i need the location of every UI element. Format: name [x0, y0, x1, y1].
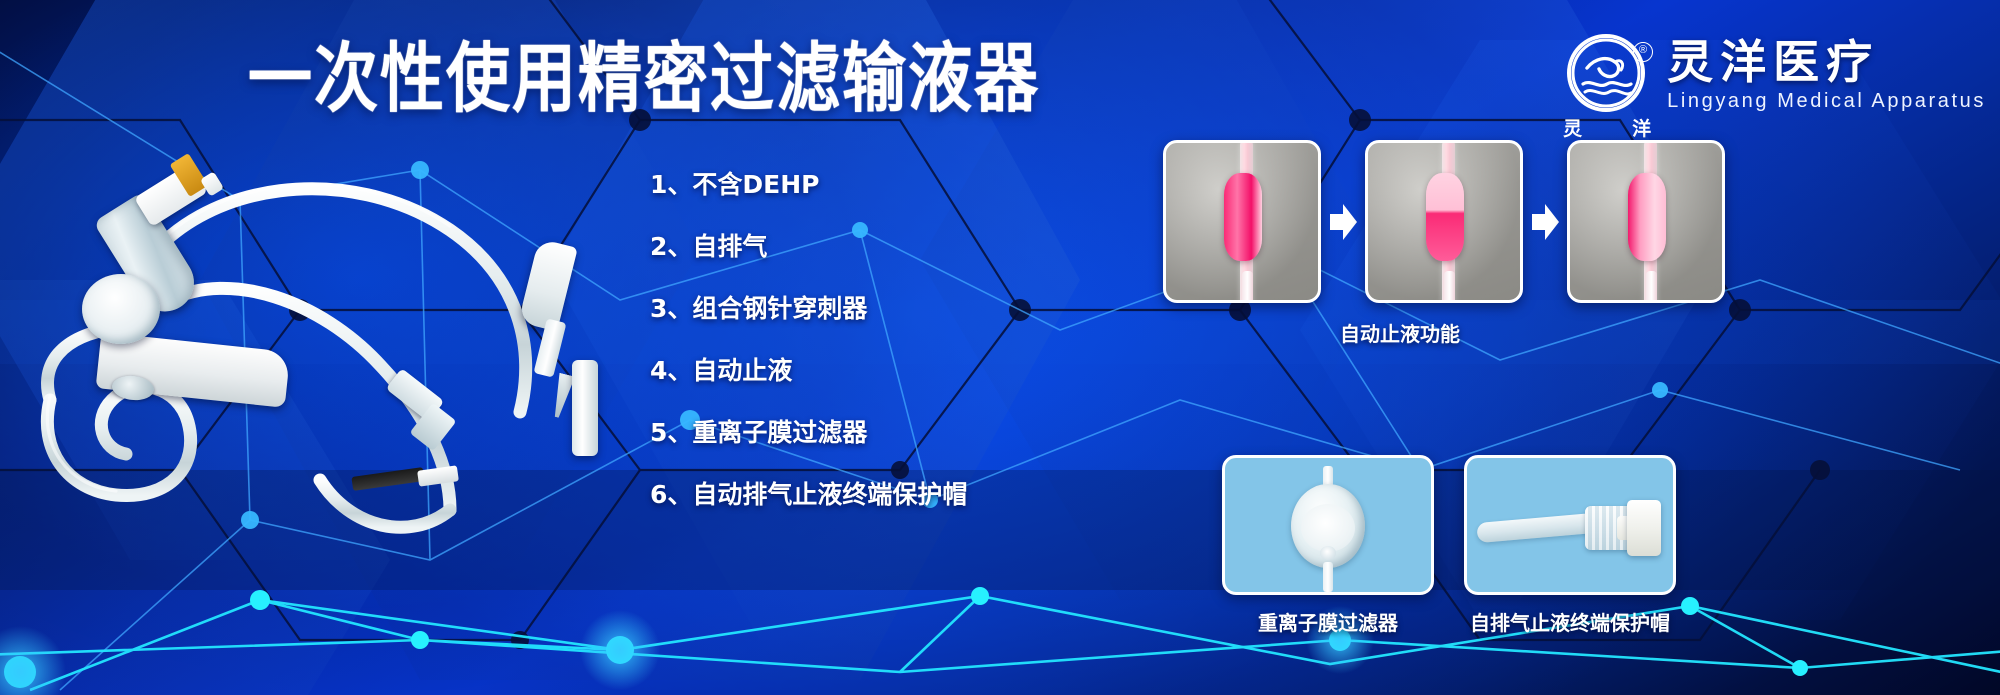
product-card-caption: 重离子膜过滤器 — [1222, 607, 1434, 636]
logo-mark-characters: 灵 洋 — [1563, 114, 1651, 141]
page-title: 一次性使用精密过滤输液器 — [248, 42, 1040, 118]
product-card-caption: 自排气止液终端保护帽 — [1464, 607, 1676, 636]
brand-name-en: Lingyang Medical Apparatus — [1667, 90, 1986, 113]
product-photo — [20, 150, 660, 550]
right-arrow-icon — [1330, 202, 1356, 242]
logo-char-left: 灵 — [1563, 114, 1582, 141]
brand-lockup: ® 灵 洋 灵洋医疗 Lingyang Medical Apparatus — [1563, 34, 1986, 138]
feature-item: 2、自排气 — [650, 234, 970, 259]
fluid-chamber — [1628, 173, 1666, 261]
brand-name-cn: 灵洋医疗 — [1667, 38, 1986, 86]
filter-photo — [1222, 455, 1434, 595]
membrane-filter — [82, 274, 160, 344]
registered-trademark-icon: ® — [1633, 42, 1653, 62]
product-card-cap: 自排气止液终端保护帽 — [1464, 455, 1676, 595]
feature-list: 1、不含DEHP 2、自排气 3、组合钢针穿刺器 4、自动止液 5、重离子膜过滤… — [650, 172, 970, 544]
promo-banner: 一次性使用精密过滤输液器 ® 灵 洋 灵洋医疗 Lingyang Medical… — [0, 0, 2000, 695]
logo-mark: ® 灵 洋 — [1563, 34, 1653, 138]
demo-strip-caption: 自动止液功能 — [1163, 318, 1637, 347]
emblem-svg — [1571, 38, 1641, 108]
auto-stop-demo-strip — [1163, 140, 1725, 303]
feature-item: 4、自动止液 — [650, 358, 970, 383]
product-card-row: 重离子膜过滤器 自排气止液终端保护帽 — [1222, 455, 1676, 595]
terminal-protective-cap — [572, 360, 598, 456]
logo-char-right: 洋 — [1632, 114, 1651, 141]
fluid-chamber — [1224, 173, 1262, 261]
feature-item: 5、重离子膜过滤器 — [650, 420, 970, 445]
feature-item: 1、不含DEHP — [650, 172, 970, 197]
brand-text: 灵洋医疗 Lingyang Medical Apparatus — [1667, 34, 1986, 113]
product-card-filter: 重离子膜过滤器 — [1222, 455, 1434, 595]
feature-item: 6、自动排气止液终端保护帽 — [650, 482, 970, 507]
fluid-chamber — [1426, 173, 1464, 261]
cap-photo — [1464, 455, 1676, 595]
feature-item: 3、组合钢针穿刺器 — [650, 296, 970, 321]
demo-frame-3 — [1567, 140, 1725, 303]
right-arrow-icon — [1532, 202, 1558, 242]
wave-fish-emblem-icon — [1567, 34, 1645, 112]
demo-frame-2 — [1365, 140, 1523, 303]
demo-frame-1 — [1163, 140, 1321, 303]
